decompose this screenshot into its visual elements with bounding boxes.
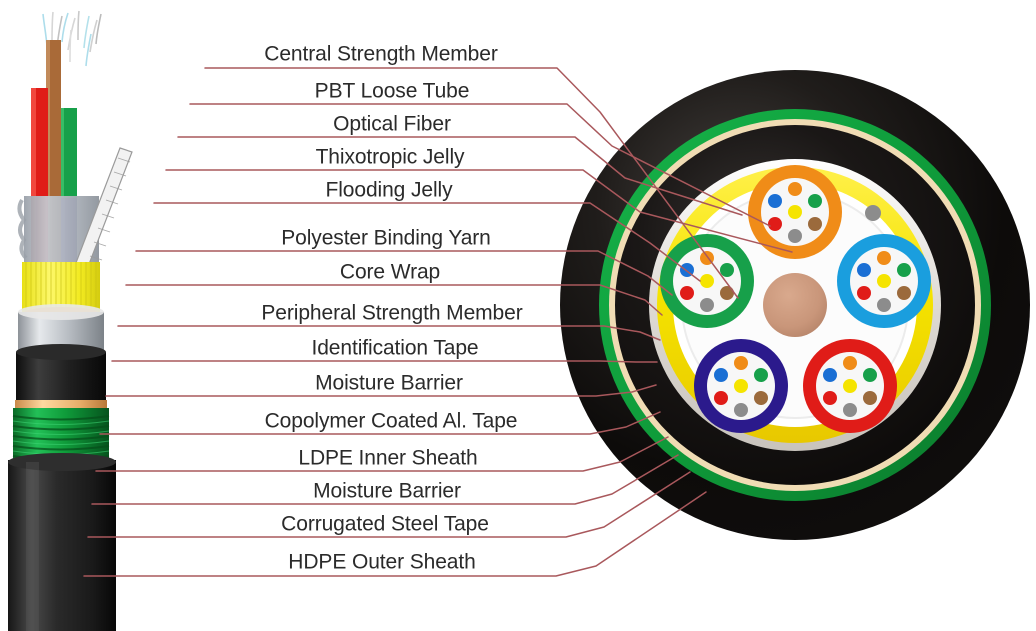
label-moisture-barrier-outer: Moisture Barrier <box>313 481 461 502</box>
label-pbt-loose-tube: PBT Loose Tube <box>315 81 470 102</box>
label-list: Central Strength MemberPBT Loose TubeOpt… <box>0 0 1036 631</box>
label-ldpe-inner-sheath: LDPE Inner Sheath <box>298 448 477 469</box>
label-central-strength-member: Central Strength Member <box>264 44 497 65</box>
label-identification-tape: Identification Tape <box>311 338 478 359</box>
label-copolymer-coated-al-tape: Copolymer Coated Al. Tape <box>265 411 518 432</box>
label-corrugated-steel-tape: Corrugated Steel Tape <box>281 514 489 535</box>
label-hdpe-outer-sheath: HDPE Outer Sheath <box>288 552 475 573</box>
label-optical-fiber: Optical Fiber <box>333 114 451 135</box>
label-peripheral-strength-member: Peripheral Strength Member <box>261 303 522 324</box>
label-thixotropic-jelly: Thixotropic Jelly <box>316 147 465 168</box>
diagram-canvas: Central Strength MemberPBT Loose TubeOpt… <box>0 0 1036 631</box>
label-flooding-jelly: Flooding Jelly <box>326 180 453 201</box>
label-polyester-binding-yarn: Polyester Binding Yarn <box>281 228 490 249</box>
label-moisture-barrier-inner: Moisture Barrier <box>315 373 463 394</box>
label-core-wrap: Core Wrap <box>340 262 440 283</box>
